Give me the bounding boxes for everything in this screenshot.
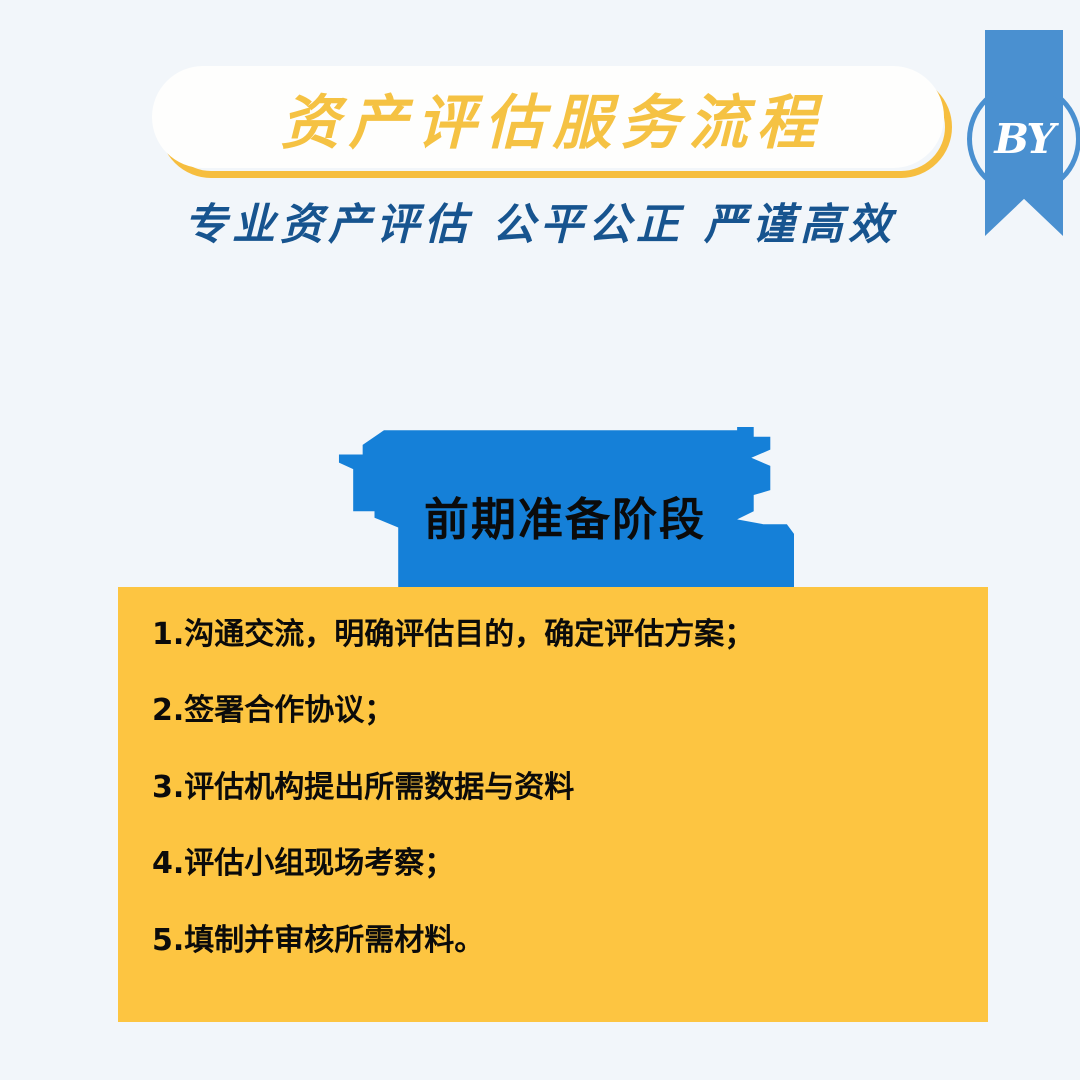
- section-banner: 前期准备阶段: [320, 427, 794, 589]
- list-item: 4.评估小组现场考察；: [152, 846, 954, 881]
- list-item: 5.填制并审核所需材料。: [152, 923, 954, 958]
- title-banner: 资产评估服务流程: [152, 66, 944, 168]
- content-panel: 1.沟通交流，明确评估目的，确定评估方案； 2.签署合作协议； 3.评估机构提出…: [118, 587, 988, 1022]
- badge-monogram: BY: [967, 82, 1080, 196]
- list-item: 2.签署合作协议；: [152, 693, 954, 728]
- list-item: 3.评估机构提出所需数据与资料: [152, 770, 954, 805]
- page-subtitle: 专业资产评估 公平公正 严谨高效: [0, 190, 1080, 252]
- poster-canvas: 资产评估服务流程 BY 专业资产评估 公平公正 严谨高效 前期准备阶段 1.沟通…: [0, 0, 1080, 1080]
- page-title: 资产评估服务流程: [271, 75, 824, 160]
- section-title: 前期准备阶段: [320, 427, 794, 589]
- step-list: 1.沟通交流，明确评估目的，确定评估方案； 2.签署合作协议； 3.评估机构提出…: [152, 617, 954, 958]
- title-pill: 资产评估服务流程: [152, 66, 944, 168]
- list-item: 1.沟通交流，明确评估目的，确定评估方案；: [152, 617, 954, 652]
